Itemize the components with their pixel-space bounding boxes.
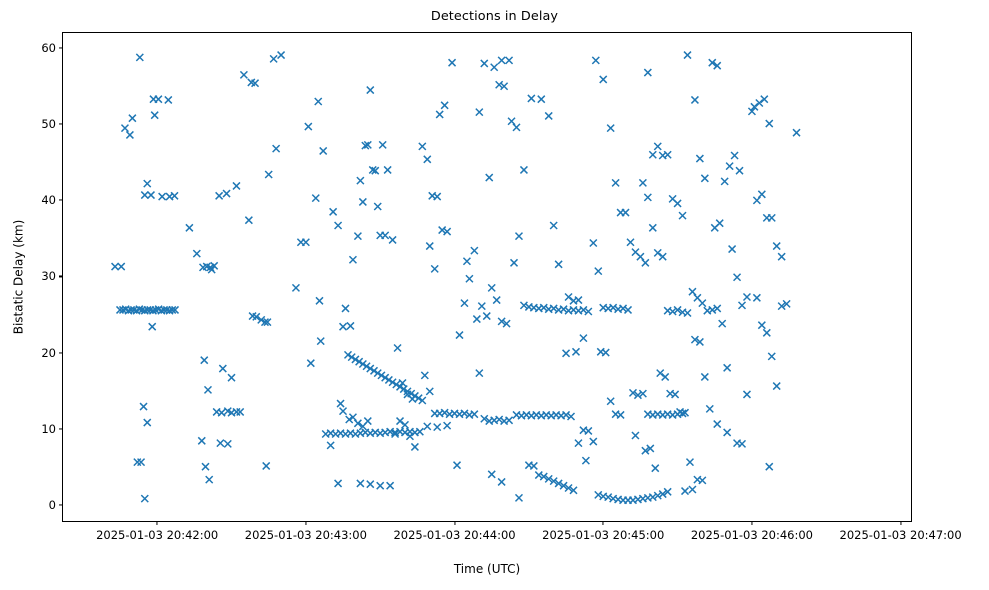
scatter-point	[766, 120, 773, 127]
plot-area: 01020304050602025-01-03 20:42:002025-01-…	[62, 32, 912, 522]
scatter-point	[389, 236, 396, 243]
scatter-point	[349, 256, 356, 263]
scatter-point	[327, 442, 334, 449]
scatter-point	[367, 481, 374, 488]
scatter-point	[416, 428, 423, 435]
scatter-point	[193, 250, 200, 257]
scatter-point	[382, 232, 389, 239]
scatter-point	[141, 192, 148, 199]
chart-figure: Detections in Delay Bistatic Delay (km) …	[0, 0, 989, 590]
scatter-point	[506, 417, 513, 424]
scatter-point	[478, 303, 485, 310]
scatter-point	[768, 353, 775, 360]
scatter-point	[649, 224, 656, 231]
scatter-point	[766, 463, 773, 470]
scatter-point	[649, 151, 656, 158]
scatter-point	[118, 263, 125, 270]
scatter-point	[201, 357, 208, 364]
scatter-point	[758, 322, 765, 329]
scatter-point	[731, 152, 738, 159]
scatter-point	[112, 263, 119, 270]
scatter-point	[424, 423, 431, 430]
scatter-point	[476, 370, 483, 377]
scatter-point	[483, 313, 490, 320]
scatter-point	[701, 373, 708, 380]
scatter-point	[335, 480, 342, 487]
scatter-point	[607, 125, 614, 132]
scatter-point	[491, 64, 498, 71]
scatter-point	[384, 166, 391, 173]
scatter-point	[140, 403, 147, 410]
scatter-point	[342, 305, 349, 312]
scatter-point	[734, 274, 741, 281]
scatter-point	[582, 457, 589, 464]
scatter-point	[347, 322, 354, 329]
scatter-point	[575, 440, 582, 447]
scatter-point	[758, 191, 765, 198]
scatter-point	[684, 52, 691, 59]
scatter-point	[686, 459, 693, 466]
scatter-point	[273, 145, 280, 152]
scatter-point	[165, 96, 172, 103]
scatter-point	[644, 194, 651, 201]
scatter-point	[793, 129, 800, 136]
scatter-point	[699, 477, 706, 484]
scatter-point	[689, 288, 696, 295]
scatter-point	[444, 422, 451, 429]
scatter-point	[481, 60, 488, 67]
scatter-point	[219, 365, 226, 372]
scatter-point	[530, 462, 537, 469]
scatter-point	[662, 373, 669, 380]
scatter-point	[743, 391, 750, 398]
scatter-point	[397, 418, 404, 425]
scatter-point	[411, 443, 418, 450]
scatter-point	[644, 69, 651, 76]
scatter-point	[659, 253, 666, 260]
scatter-point	[498, 478, 505, 485]
scatter-point	[654, 143, 661, 150]
scatter-point	[426, 243, 433, 250]
scatter-point	[456, 332, 463, 339]
scatter-point	[155, 96, 162, 103]
scatter-point	[144, 419, 151, 426]
scatter-point	[223, 190, 230, 197]
x-tick-mark	[454, 521, 455, 525]
scatter-point	[434, 193, 441, 200]
scatter-point	[726, 163, 733, 170]
scatter-point	[592, 57, 599, 64]
x-tick-label: 2025-01-03 20:45:00	[542, 528, 664, 542]
scatter-point	[144, 180, 151, 187]
scatter-point	[632, 432, 639, 439]
scatter-point	[466, 275, 473, 282]
scatter-point	[166, 193, 173, 200]
scatter-point	[449, 59, 456, 66]
y-tick-label: 50	[41, 117, 63, 131]
scatter-point	[224, 440, 231, 447]
scatter-point	[270, 55, 277, 62]
scatter-point	[312, 195, 319, 202]
scatter-point	[454, 462, 461, 469]
scatter-point	[595, 268, 602, 275]
scatter-point	[367, 87, 374, 94]
x-tick-label: 2025-01-03 20:44:00	[393, 528, 515, 542]
scatter-point	[679, 212, 686, 219]
scatter-point	[374, 203, 381, 210]
scatter-point	[159, 193, 166, 200]
scatter-point	[340, 323, 347, 330]
scatter-point	[753, 294, 760, 301]
scatter-point	[565, 294, 572, 301]
scatter-point	[357, 480, 364, 487]
scatter-point	[674, 200, 681, 207]
scatter-point	[724, 429, 731, 436]
scatter-point	[292, 284, 299, 291]
scatter-point	[486, 174, 493, 181]
scatter-point	[265, 171, 272, 178]
scatter-point	[436, 111, 443, 118]
scatter-series	[63, 33, 913, 523]
scatter-point	[206, 476, 213, 483]
x-tick-mark	[900, 521, 901, 525]
scatter-point	[434, 424, 441, 431]
x-tick-mark	[305, 521, 306, 525]
scatter-point	[151, 112, 158, 119]
scatter-point	[513, 124, 520, 131]
scatter-point	[672, 391, 679, 398]
scatter-point	[387, 482, 394, 489]
scatter-point	[204, 386, 211, 393]
scatter-point	[218, 409, 225, 416]
y-tick-label: 0	[49, 498, 63, 512]
scatter-point	[409, 395, 416, 402]
scatter-point	[545, 112, 552, 119]
scatter-point	[714, 421, 721, 428]
scatter-point	[627, 239, 634, 246]
scatter-point	[488, 284, 495, 291]
y-tick-label: 40	[41, 193, 63, 207]
y-tick-label: 30	[41, 269, 63, 283]
scatter-point	[719, 320, 726, 327]
scatter-point	[515, 494, 522, 501]
scatter-point	[563, 350, 570, 357]
x-tick-mark	[751, 521, 752, 525]
scatter-point	[724, 364, 731, 371]
scatter-point	[590, 438, 597, 445]
scatter-point	[431, 265, 438, 272]
scatter-point	[237, 408, 244, 415]
scatter-point	[498, 57, 505, 64]
page-title: Detections in Delay	[0, 9, 989, 24]
scatter-point	[149, 323, 156, 330]
scatter-point	[305, 123, 312, 130]
scatter-point	[580, 335, 587, 342]
y-tick-label: 10	[41, 422, 63, 436]
scatter-point	[401, 421, 408, 428]
scatter-point	[335, 222, 342, 229]
scatter-point	[538, 96, 545, 103]
scatter-point	[228, 374, 235, 381]
scatter-point	[315, 98, 322, 105]
scatter-point	[528, 95, 535, 102]
scatter-point	[233, 182, 240, 189]
scatter-point	[753, 197, 760, 204]
scatter-point	[263, 462, 270, 469]
scatter-point	[550, 222, 557, 229]
scatter-point	[572, 348, 579, 355]
scatter-point	[278, 52, 285, 59]
scatter-point	[399, 380, 406, 387]
scatter-point	[721, 178, 728, 185]
x-tick-label: 2025-01-03 20:42:00	[96, 528, 218, 542]
scatter-point	[743, 294, 750, 301]
y-tick-label: 60	[41, 41, 63, 55]
scatter-point	[515, 233, 522, 240]
x-tick-mark	[603, 521, 604, 525]
scatter-point	[330, 208, 337, 215]
scatter-point	[426, 388, 433, 395]
scatter-point	[488, 471, 495, 478]
scatter-point	[406, 433, 413, 440]
scatter-point	[245, 217, 252, 224]
scatter-point	[508, 118, 515, 125]
scatter-point	[471, 411, 478, 418]
scatter-point	[511, 259, 518, 266]
scatter-point	[141, 495, 148, 502]
scatter-point	[138, 459, 145, 466]
scatter-point	[696, 155, 703, 162]
y-tick-label: 20	[41, 346, 63, 360]
scatter-point	[147, 192, 154, 199]
scatter-point	[706, 405, 713, 412]
scatter-point	[394, 345, 401, 352]
y-axis-label-text: Bistatic Delay (km)	[11, 220, 25, 335]
scatter-point	[216, 192, 223, 199]
scatter-point	[202, 463, 209, 470]
scatter-point	[240, 71, 247, 78]
scatter-point	[359, 198, 366, 205]
scatter-point	[506, 57, 513, 64]
scatter-point	[642, 259, 649, 266]
scatter-points	[112, 52, 800, 504]
scatter-point	[302, 239, 309, 246]
scatter-point	[617, 411, 624, 418]
scatter-point	[121, 125, 128, 132]
scatter-point	[736, 167, 743, 174]
scatter-point	[763, 329, 770, 336]
scatter-point	[126, 131, 133, 138]
scatter-point	[699, 300, 706, 307]
scatter-point	[136, 54, 143, 61]
scatter-point	[461, 300, 468, 307]
scatter-point	[473, 316, 480, 323]
scatter-point	[134, 459, 141, 466]
scatter-point	[307, 360, 314, 367]
scatter-point	[657, 370, 664, 377]
scatter-point	[639, 179, 646, 186]
scatter-point	[600, 76, 607, 83]
scatter-point	[768, 214, 775, 221]
scatter-point	[186, 224, 193, 231]
scatter-point	[493, 297, 500, 304]
scatter-point	[682, 488, 689, 495]
scatter-point	[364, 418, 371, 425]
scatter-point	[691, 96, 698, 103]
scatter-point	[129, 115, 136, 122]
y-axis-label: Bistatic Delay (km)	[10, 32, 26, 522]
x-tick-label: 2025-01-03 20:46:00	[691, 528, 813, 542]
scatter-point	[357, 177, 364, 184]
scatter-point	[664, 151, 671, 158]
scatter-point	[716, 220, 723, 227]
scatter-point	[756, 100, 763, 107]
scatter-point	[778, 253, 785, 260]
scatter-point	[622, 209, 629, 216]
scatter-point	[421, 372, 428, 379]
scatter-point	[379, 141, 386, 148]
scatter-point	[652, 465, 659, 472]
scatter-point	[317, 338, 324, 345]
scatter-point	[476, 109, 483, 116]
scatter-point	[739, 302, 746, 309]
scatter-point	[602, 349, 609, 356]
x-tick-mark	[157, 521, 158, 525]
scatter-point	[424, 156, 431, 163]
scatter-point	[607, 398, 614, 405]
scatter-point	[689, 486, 696, 493]
scatter-point	[340, 408, 347, 415]
scatter-point	[337, 400, 344, 407]
scatter-point	[773, 243, 780, 250]
scatter-point	[419, 143, 426, 150]
scatter-point	[761, 96, 768, 103]
scatter-point	[233, 408, 240, 415]
scatter-point	[316, 297, 323, 304]
scatter-point	[773, 383, 780, 390]
x-tick-label: 2025-01-03 20:43:00	[245, 528, 367, 542]
scatter-point	[520, 166, 527, 173]
scatter-point	[729, 246, 736, 253]
scatter-point	[555, 261, 562, 268]
x-tick-label: 2025-01-03 20:47:00	[840, 528, 962, 542]
scatter-point	[590, 240, 597, 247]
scatter-point	[354, 233, 361, 240]
scatter-point	[471, 247, 478, 254]
scatter-point	[612, 179, 619, 186]
scatter-point	[585, 427, 592, 434]
scatter-point	[701, 175, 708, 182]
scatter-point	[377, 482, 384, 489]
scatter-point	[463, 258, 470, 265]
scatter-point	[441, 102, 448, 109]
x-axis-label: Time (UTC)	[62, 562, 912, 576]
scatter-point	[320, 147, 327, 154]
scatter-point	[684, 310, 691, 317]
scatter-point	[198, 437, 205, 444]
scatter-point	[217, 440, 224, 447]
scatter-point	[575, 297, 582, 304]
scatter-point	[739, 440, 746, 447]
scatter-point	[637, 253, 644, 260]
scatter-point	[654, 249, 661, 256]
